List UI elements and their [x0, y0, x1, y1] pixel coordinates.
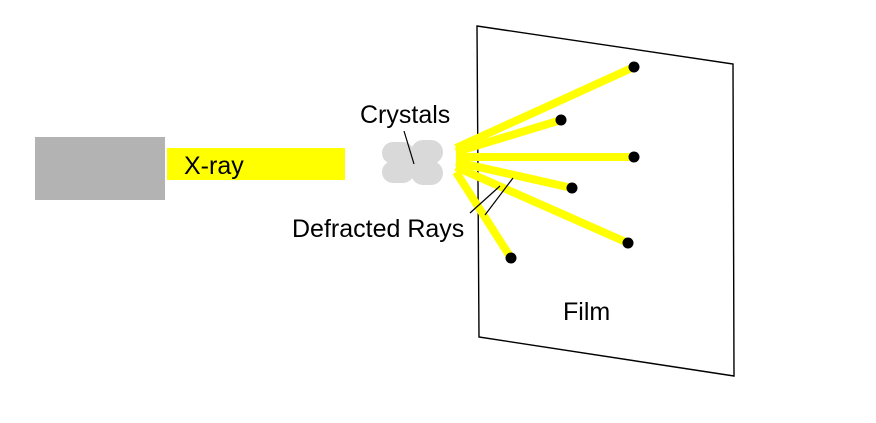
diagram-canvas: Film X-ray Crystals Defracted Rays	[0, 0, 876, 423]
defracted-rays-group	[456, 67, 634, 258]
spot-5	[623, 238, 634, 249]
film-label: Film	[563, 298, 610, 326]
defracted-rays-label: Defracted Rays	[292, 215, 464, 243]
spot-4	[567, 183, 578, 194]
ray-up-far	[456, 67, 634, 148]
spot-6	[506, 253, 517, 264]
spot-3	[629, 152, 640, 163]
xray-diffraction-diagram: Film X-ray Crystals Defracted Rays	[0, 0, 876, 423]
spot-1	[629, 62, 640, 73]
crystal-cluster	[382, 140, 443, 185]
spot-2	[556, 115, 567, 126]
x-ray-source-box	[35, 137, 165, 200]
crystals-label: Crystals	[360, 101, 450, 129]
x-ray-beam-label: X-ray	[184, 152, 244, 180]
